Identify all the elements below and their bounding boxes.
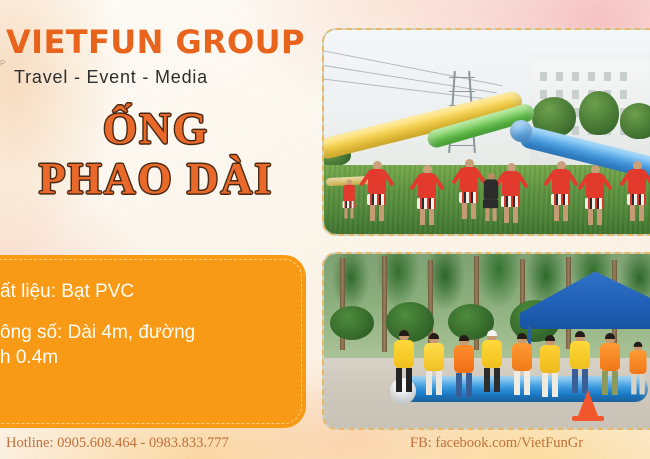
footer-facebook[interactable]: FB: facebook.com/VietFunGr bbox=[410, 435, 583, 452]
participant bbox=[600, 334, 620, 395]
product-title-line-2: PHAO DÀI bbox=[0, 156, 312, 202]
specifications-panel: ất liệu: Bạt PVC ông số: Dài 4m, đường h… bbox=[0, 255, 306, 428]
brand-tagline: Travel - Event - Media bbox=[14, 67, 306, 88]
footer-hotline: Hotline: 0905.608.464 - 0983.833.777 bbox=[6, 435, 229, 452]
participant bbox=[482, 331, 502, 392]
photo-bottom-image bbox=[324, 254, 650, 428]
participant bbox=[570, 332, 590, 393]
tube-end-cap bbox=[510, 120, 532, 142]
participant bbox=[460, 159, 478, 219]
tree bbox=[579, 91, 619, 135]
specifications-list: ất liệu: Bạt PVC ông số: Dài 4m, đường h… bbox=[0, 279, 290, 386]
spec-dimensions-line-1: ông số: Dài 4m, đường bbox=[0, 322, 195, 343]
brand-name: VIETFUN GROUP bbox=[6, 26, 306, 60]
spec-material: ất liệu: Bạt PVC bbox=[0, 279, 290, 304]
poster-canvas: VIETFUN GROUP Travel - Event - Media P Ố… bbox=[0, 0, 650, 459]
participant bbox=[502, 163, 520, 223]
participant-spectator bbox=[630, 342, 647, 394]
participant bbox=[552, 161, 570, 221]
spec-dimensions: ông số: Dài 4m, đường h 0.4m bbox=[0, 320, 290, 370]
canopy-tent bbox=[520, 271, 650, 329]
photo-top-image bbox=[324, 30, 650, 234]
participant bbox=[512, 334, 532, 395]
brand-logo-mark: P bbox=[0, 60, 5, 68]
product-title: ỐNG PHAO DÀI bbox=[0, 106, 312, 202]
tent-canopy bbox=[520, 271, 650, 329]
photo-frame-bottom bbox=[322, 252, 650, 430]
brand-header: VIETFUN GROUP Travel - Event - Media bbox=[6, 26, 306, 88]
participant bbox=[586, 165, 604, 225]
palm-trunk bbox=[382, 256, 387, 352]
participant bbox=[368, 161, 386, 221]
footer-bar: Hotline: 0905.608.464 - 0983.833.777 FB:… bbox=[0, 429, 650, 459]
traffic-cone bbox=[578, 390, 598, 416]
participant bbox=[454, 336, 474, 397]
participant-distant bbox=[343, 179, 355, 218]
product-title-line-1: ỐNG bbox=[0, 106, 312, 152]
trimmed-shrub bbox=[330, 306, 374, 340]
participant bbox=[424, 334, 444, 395]
photo-frame-top bbox=[322, 28, 650, 236]
participant bbox=[418, 165, 436, 225]
participant bbox=[628, 161, 646, 221]
participant-spectator bbox=[484, 173, 498, 221]
spec-dimensions-line-2: h 0.4m bbox=[0, 347, 58, 368]
tree bbox=[620, 103, 650, 139]
participant bbox=[394, 331, 414, 392]
participant bbox=[540, 336, 560, 397]
